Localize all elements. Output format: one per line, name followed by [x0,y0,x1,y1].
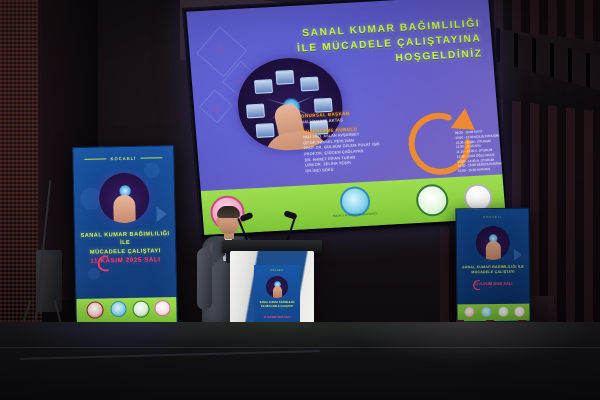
banner-top-strip: KOCAELİ [73,155,173,162]
banner-hand-network-icon [99,172,150,223]
right-banner-title-line-2: MÜCADELE ÇALIŞTAYI [471,270,514,274]
screen-frame: SANAL KUMAR BAĞIMLILIĞI İLE MÜCADELE ÇAL… [182,0,510,239]
banner-logo-green-icon [132,301,149,318]
banner-logo-blue-icon [110,301,126,317]
right-banner-title: SANAL KUMAR BAĞIMLILIĞI İLE MÜCADELE ÇAL… [460,265,526,276]
banner-date: 11 KASIM 2025 SALI [75,256,175,265]
lectern-hand-network-icon [266,276,288,298]
lectern-title-line-1: SANAL KUMAR BAĞIMLILIĞI [260,301,295,304]
right-logo-blue-icon [481,307,491,317]
right-banner-title-line-1: SANAL KUMAR BAĞIMLILIĞI İLE [462,265,524,270]
right-logo-green-icon [498,307,508,317]
banner-title-line-2: MÜCADELE ÇALIŞTAYI [90,248,161,255]
speaker-left-arm [197,248,212,310]
right-logo-pink-icon [514,307,524,317]
municipality-logo-caption: KOCAELİ BÜYÜKŞEHİR BELEDİYESİ [329,212,381,218]
banner-title: SANAL KUMAR BAĞIMLILIĞI İLE MÜCADELE ÇAL… [79,230,172,257]
lectern-title-line-2: İLE MÜCADELE ÇALIŞTAYI [261,305,293,308]
stage-photo-scene: SANAL KUMAR BAĞIMLILIĞI İLE MÜCADELE ÇAL… [0,0,600,400]
agenda-time-list: 09:30 - 10:00 KAYIT 10:00 - 10:30 AÇILIŞ… [415,128,506,176]
microphone-head-left [239,212,253,222]
right-banner-date: 11 KASIM 2025 SALI [457,281,529,287]
right-banner-hand-network-icon [476,226,510,260]
floor-reflections [0,322,600,400]
right-banner-city-label: KOCAELİ [456,215,528,220]
banner-triangle-decoration-icon [156,206,166,222]
health-directorate-logo-icon [415,183,450,217]
speaker-ear-left [216,218,220,225]
banner-logo-red-icon [86,301,103,318]
stage-edge-line [0,347,600,348]
microphone-head-right [283,210,297,220]
lectern-panel-title: SANAL KUMAR BAĞIMLILIĞI İLE MÜCADELE ÇAL… [256,301,298,309]
lectern-city-label: KOCAELİ [254,269,300,272]
banner-city-label: KOCAELİ [110,156,136,162]
right-rollup-banner: KOCAELİ SANAL KUMAR BAĞIMLILIĞI İLE MÜCA… [455,208,530,323]
projection-screen: SANAL KUMAR BAĞIMLILIĞI İLE MÜCADELE ÇAL… [182,0,510,239]
left-rollup-banner: KOCAELİ SANAL KUMAR BAĞIMLILIĞI İLE MÜCA… [72,145,178,326]
lectern-panel-date: 11 KASIM 2025 SALI [254,315,300,319]
presentation-slide: SANAL KUMAR BAĞIMLILIĞI İLE MÜCADELE ÇAL… [186,0,506,235]
committee-member-list: VALİ YRD. ASLAN AVŞARBEY OP.DR.YÜKSEL PE… [303,130,410,175]
right-banner-triangle-icon [514,249,522,261]
speaker-hair [217,206,240,218]
banner-title-line-1: SANAL KUMAR BAĞIMLILIĞI İLE [80,231,169,246]
slide-program-block: ONURSAL BAŞKAN VALİ İLHAMİ AKTAŞ DÜZENLE… [301,108,410,175]
right-logo-red-icon [464,307,474,317]
banner-footer-band [76,297,177,325]
banner-logo-pink-icon [154,300,170,316]
circular-arrow-icon: 09:30 - 10:00 KAYIT 10:00 - 10:30 AÇILIŞ… [394,100,485,188]
